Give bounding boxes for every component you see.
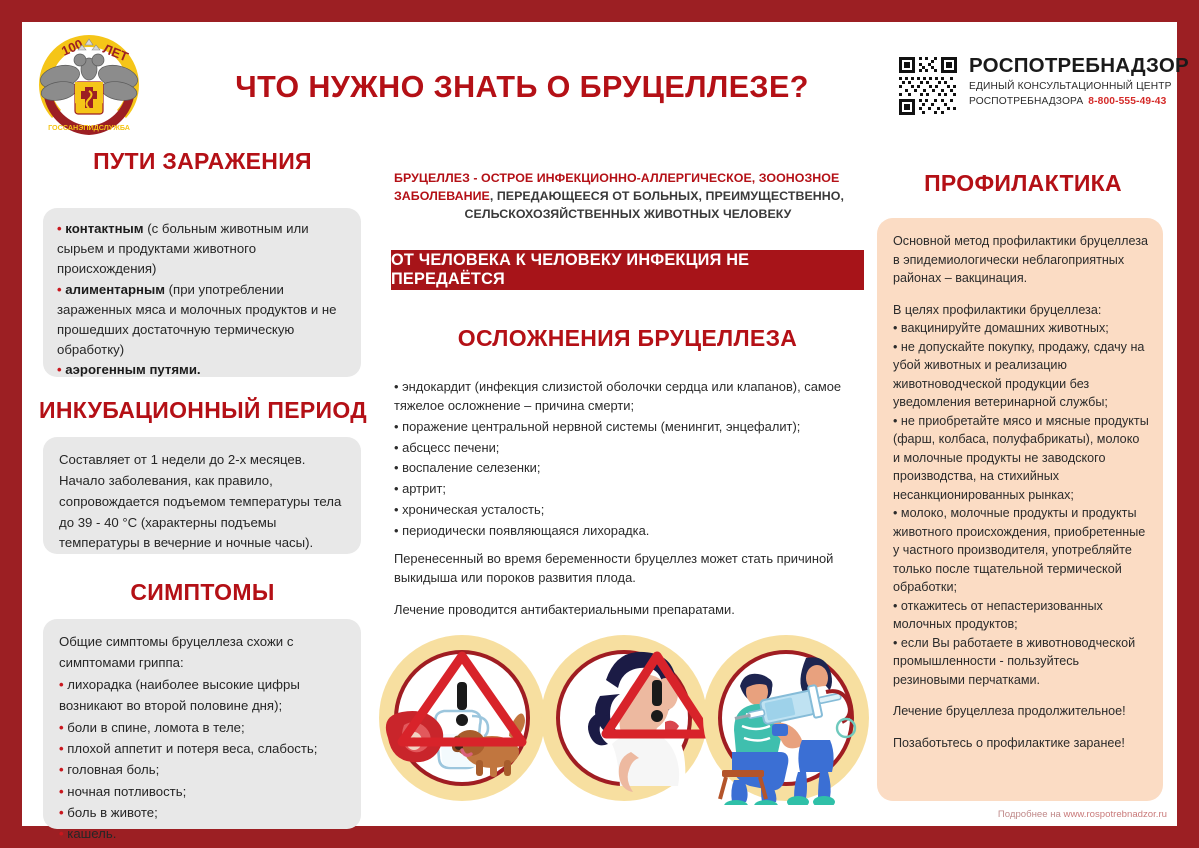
list-item: • периодически появляющаяся лихорадка. (394, 521, 856, 540)
bullet-icon: • (394, 481, 402, 496)
org-subtitle-line2: РОСПОТРЕБНАДЗОРА8-800-555-49-43 (969, 96, 1166, 107)
qr-code-icon[interactable] (897, 55, 959, 117)
list-item: • лихорадка (наиболее высокие цифры возн… (59, 674, 345, 717)
complications-list: • эндокардит (инфекция слизистой оболочк… (394, 377, 856, 541)
bullet-icon: • (394, 419, 402, 434)
bullet-icon: • (893, 321, 901, 335)
prophylaxis-list-intro: В целях профилактики бруцеллеза: (893, 301, 1149, 320)
prophylaxis-text: вакцинируйте домашних животных; (901, 321, 1109, 335)
symptom-text: боль в животе; (67, 805, 157, 820)
poster-inner: 100 ЛЕТ ГОСС (22, 22, 1177, 826)
prophylaxis-panel: Основной метод профилактики бруцеллеза в… (877, 218, 1163, 801)
symptom-text: кашель. (67, 826, 116, 841)
footer-note: Подробнее на www.rospotrebnadzor.ru (877, 809, 1167, 820)
list-item: • не приобретайте мясо и мясные продукты… (893, 412, 1149, 505)
prophylaxis-text: если Вы работаете в животноводческой про… (893, 636, 1135, 687)
poster-header: 100 ЛЕТ ГОСС (22, 22, 1177, 142)
prophylaxis-text: молоко, молочные продукты и продукты жив… (893, 506, 1145, 594)
org-subtitle-line1: ЕДИНЫЙ КОНСУЛЬТАЦИОННЫЙ ЦЕНТР (969, 81, 1172, 92)
illustration-row (374, 630, 874, 805)
rospotrebnadzor-emblem-icon: 100 ЛЕТ ГОСС (30, 25, 148, 143)
prophylaxis-text: откажитесь от непастеризованных молочных… (893, 599, 1103, 632)
intro-definition: БРУЦЕЛЛЕЗ - ОСТРОЕ ИНФЕКЦИОННО-АЛЛЕРГИЧЕ… (394, 170, 862, 224)
section-heading-symptoms: СИМПТОМЫ (40, 579, 365, 606)
list-item: • хроническая усталость; (394, 500, 856, 519)
incubation-text: Составляет от 1 недели до 2-х месяцев. Н… (59, 452, 341, 550)
complication-text: артрит; (402, 481, 446, 496)
bullet-icon: • (394, 440, 402, 455)
list-item: • если Вы работаете в животноводческой п… (893, 634, 1149, 690)
list-item: • боль в животе; (59, 802, 345, 823)
illustration-vaccination (703, 635, 869, 805)
symptom-text: боли в спине, ломота в теле; (67, 720, 244, 735)
symptoms-panel: Общие симптомы бруцеллеза схожи с симпто… (43, 619, 361, 829)
section-heading-incubation: ИНКУБАЦИОННЫЙ ПЕРИОД (35, 397, 371, 424)
svg-text:ГОССАНЭПИДСЛУЖБА: ГОССАНЭПИДСЛУЖБА (48, 123, 130, 132)
bullet-icon: • (893, 414, 901, 428)
page-title: ЧТО НУЖНО ЗНАТЬ О БРУЦЕЛЛЕЗЕ? (192, 70, 852, 105)
list-item: • не допускайте покупку, продажу, сдачу … (893, 338, 1149, 412)
bullet-icon: • (893, 506, 901, 520)
intro-line3: СЕЛЬСКОХОЗЯЙСТВЕННЫХ ЖИВОТНЫХ ЧЕЛОВЕКУ (394, 206, 862, 224)
pregnancy-note: Перенесенный во время беременности бруце… (394, 549, 844, 588)
incubation-panel: Составляет от 1 недели до 2-х месяцев. Н… (43, 437, 361, 554)
symptom-text: лихорадка (наиболее высокие цифры возник… (59, 677, 300, 713)
prophylaxis-intro: Основной метод профилактики бруцеллеза в… (893, 232, 1149, 288)
complication-text: поражение центральной нервной системы (м… (402, 419, 800, 434)
complication-text: периодически появляющаяся лихорадка. (402, 523, 649, 538)
hotline-phone[interactable]: 8-800-555-49-43 (1088, 96, 1166, 107)
transmission-lead: алиментарным (65, 282, 165, 297)
prophylaxis-text: не допускайте покупку, продажу, сдачу на… (893, 340, 1144, 410)
list-item: • поражение центральной нервной системы … (394, 417, 856, 436)
list-item: • кашель. (59, 823, 345, 844)
org-subtitle-text: РОСПОТРЕБНАДЗОРА (969, 96, 1083, 107)
bullet-icon: • (893, 599, 901, 613)
bullet-icon: • (394, 523, 402, 538)
list-item: • контактным (с больным животным или сыр… (57, 219, 345, 280)
prophylaxis-text: не приобретайте мясо и мясные продукты (… (893, 414, 1149, 502)
list-item: • воспаление селезенки; (394, 458, 856, 477)
no-human-transmission-banner: ОТ ЧЕЛОВЕКА К ЧЕЛОВЕКУ ИНФЕКЦИЯ НЕ ПЕРЕД… (391, 250, 864, 290)
list-item: • алиментарным (при употреблении заражен… (57, 280, 345, 361)
symptom-text: головная боль; (67, 762, 159, 777)
org-name: РОСПОТРЕБНАДЗОР (969, 54, 1189, 78)
spacer (893, 721, 1149, 734)
intro-line2-rest: , ПЕРЕДАЮЩЕЕСЯ ОТ БОЛЬНЫХ, ПРЕИМУЩЕСТВЕН… (490, 189, 844, 203)
complication-text: абсцесс печени; (402, 440, 499, 455)
list-item: • артрит; (394, 479, 856, 498)
treatment-note: Лечение проводится антибактериальными пр… (394, 600, 844, 619)
symptoms-intro: Общие симптомы бруцеллеза схожи с симпто… (59, 631, 345, 674)
spacer (893, 288, 1149, 301)
footer-note-prefix: Подробнее на (998, 809, 1064, 820)
closing-line-2: Позаботьтесь о профилактике заранее! (893, 734, 1149, 753)
bullet-icon: • (893, 340, 901, 354)
closing-line-1: Лечение бруцеллеза продолжительное! (893, 702, 1149, 721)
poster-root: 100 ЛЕТ ГОСС (0, 0, 1199, 848)
footer-website-link[interactable]: www.rospotrebnadzor.ru (1064, 809, 1167, 820)
complication-text: хроническая усталость; (402, 502, 544, 517)
illustration-meat-milk-dog (379, 635, 545, 801)
transmission-lead: контактным (65, 221, 143, 236)
bullet-icon: • (394, 502, 402, 517)
complication-text: эндокардит (инфекция слизистой оболочки … (394, 379, 841, 413)
list-item: • головная боль; (59, 759, 345, 780)
list-item: • эндокардит (инфекция слизистой оболочк… (394, 377, 856, 415)
symptom-text: ночная потливость; (67, 784, 186, 799)
illustration-pregnant-woman (541, 635, 708, 801)
bullet-icon: • (394, 460, 402, 475)
symptom-text: плохой аппетит и потеря веса, слабость; (67, 741, 317, 756)
transmission-panel: • контактным (с больным животным или сыр… (43, 208, 361, 377)
spacer (893, 689, 1149, 702)
bullet-icon: • (893, 636, 901, 650)
section-heading-prophylaxis: ПРОФИЛАКТИКА (878, 170, 1168, 197)
section-heading-transmission: ПУТИ ЗАРАЖЕНИЯ (40, 148, 365, 175)
list-item: • аэрогенным путями. (57, 360, 345, 380)
complication-text: воспаление селезенки; (402, 460, 540, 475)
list-item: • откажитесь от непастеризованных молочн… (893, 597, 1149, 634)
bullet-icon: • (394, 379, 402, 394)
list-item: • плохой аппетит и потеря веса, слабость… (59, 738, 345, 759)
section-heading-complications: ОСЛОЖНЕНИЯ БРУЦЕЛЛЕЗА (391, 325, 864, 352)
list-item: • ночная потливость; (59, 781, 345, 802)
transmission-lead: аэрогенным путями. (65, 362, 200, 377)
list-item: • боли в спине, ломота в теле; (59, 717, 345, 738)
rospotrebnadzor-contact-block: РОСПОТРЕБНАДЗОР ЕДИНЫЙ КОНСУЛЬТАЦИОННЫЙ … (897, 54, 1167, 144)
list-item: • вакцинируйте домашних животных; (893, 319, 1149, 338)
intro-line2: ЗАБОЛЕВАНИЕ, ПЕРЕДАЮЩЕЕСЯ ОТ БОЛЬНЫХ, ПР… (394, 188, 862, 206)
intro-line1: БРУЦЕЛЛЕЗ - ОСТРОЕ ИНФЕКЦИОННО-АЛЛЕРГИЧЕ… (394, 170, 862, 188)
intro-line2-red: ЗАБОЛЕВАНИЕ (394, 189, 490, 203)
list-item: • абсцесс печени; (394, 438, 856, 457)
list-item: • молоко, молочные продукты и продукты ж… (893, 504, 1149, 597)
